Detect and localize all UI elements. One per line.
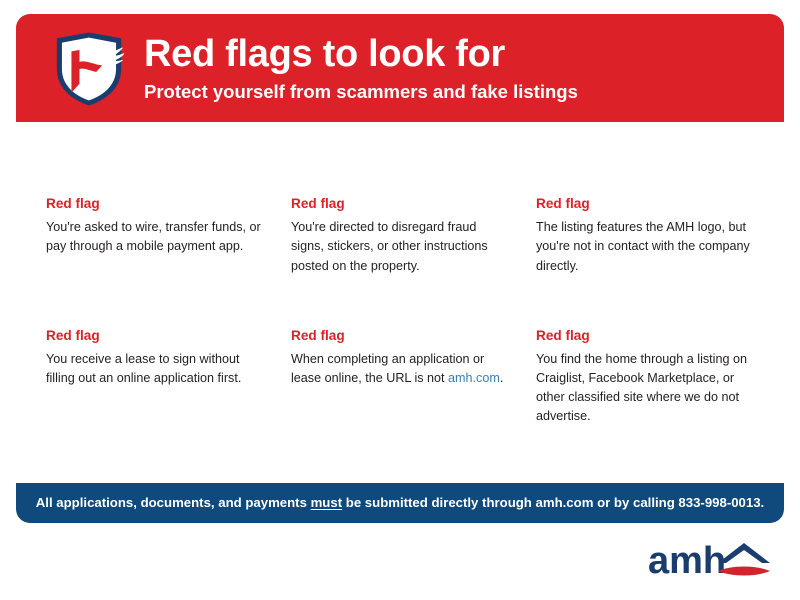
red-flag-item-3: Red flag The listing features the AMH lo… [536, 196, 764, 276]
page-subtitle: Protect yourself from scammers and fake … [144, 81, 578, 103]
red-flag-body: You're asked to wire, transfer funds, or… [46, 218, 262, 256]
red-flag-heading: Red flag [46, 196, 262, 212]
red-flag-heading: Red flag [46, 328, 262, 344]
red-flag-heading: Red flag [291, 196, 507, 212]
red-flag-body: When completing an application or lease … [291, 350, 507, 388]
red-flag-body: You receive a lease to sign without fill… [46, 350, 262, 388]
red-flag-body: The listing features the AMH logo, but y… [536, 218, 764, 275]
footer-text-part1: All applications, documents, and payment… [36, 495, 311, 510]
amh-wordmark: amh [648, 540, 726, 582]
red-flag-item-2: Red flag You're directed to disregard fr… [291, 196, 507, 276]
header-banner: Red flags to look for Protect yourself f… [16, 14, 784, 122]
header-text-group: Red flags to look for Protect yourself f… [144, 33, 578, 103]
red-flag-item-6: Red flag You find the home through a lis… [536, 328, 764, 427]
red-flag-item-1: Red flag You're asked to wire, transfer … [46, 196, 262, 276]
footer-text-part2: be submitted directly through amh.com or… [342, 495, 764, 510]
amh-com-link[interactable]: amh.com [448, 371, 500, 385]
red-flag-body-tail: . [500, 371, 504, 385]
red-flag-heading: Red flag [536, 328, 764, 344]
footer-notice-text: All applications, documents, and payment… [36, 495, 764, 511]
shield-flag-icon [52, 31, 126, 107]
red-flag-heading: Red flag [536, 196, 764, 212]
footer-emphasis-must: must [311, 495, 343, 510]
page-title: Red flags to look for [144, 35, 578, 75]
red-flag-heading: Red flag [291, 328, 507, 344]
red-flag-item-4: Red flag You receive a lease to sign wit… [46, 328, 262, 427]
red-flag-body: You're directed to disregard fraud signs… [291, 218, 507, 275]
red-flag-item-5: Red flag When completing an application … [291, 328, 507, 427]
red-flag-body: You find the home through a listing on C… [536, 350, 764, 427]
footer-notice-bar: All applications, documents, and payment… [16, 483, 784, 523]
amh-logo: amh [648, 537, 776, 585]
red-flags-grid: Red flag You're asked to wire, transfer … [46, 196, 756, 427]
